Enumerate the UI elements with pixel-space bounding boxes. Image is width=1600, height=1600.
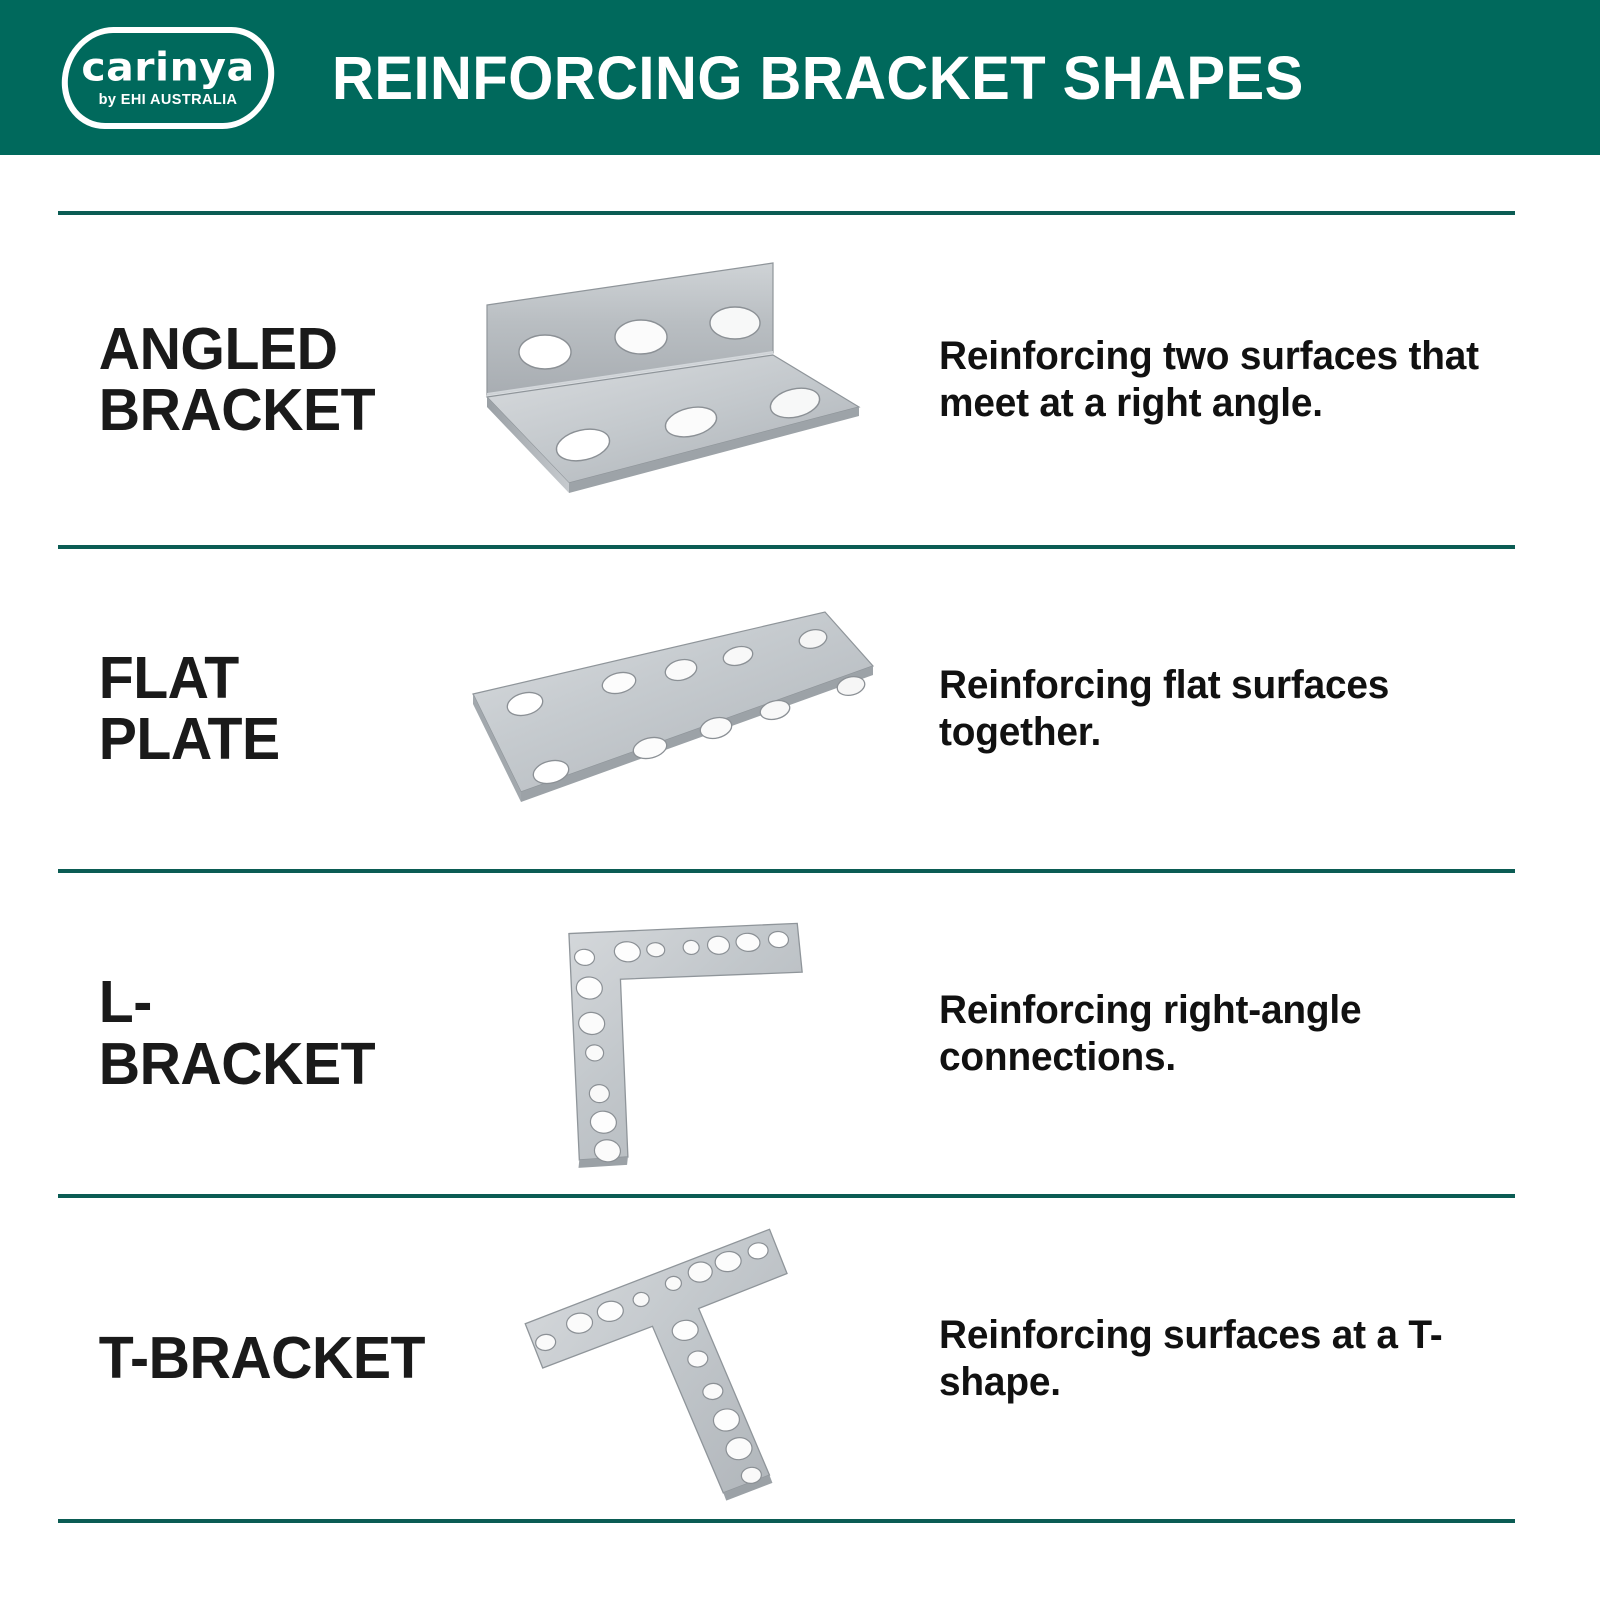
row-label-line-1: L-BRACKET bbox=[99, 972, 427, 1095]
logo-tagline: by EHI AUSTRALIA bbox=[99, 93, 238, 108]
logo-wordmark: carinya bbox=[81, 48, 254, 87]
row-description-t-bracket: Reinforcing surfaces at a T-shape. bbox=[908, 1312, 1497, 1406]
l-bracket-icon bbox=[523, 889, 823, 1179]
flat-plate-icon bbox=[463, 594, 883, 824]
infographic-page: carinya by EHI AUSTRALIA REINFORCING BRA… bbox=[0, 0, 1600, 1600]
row-l-bracket: L-BRACKET bbox=[58, 873, 1515, 1194]
row-label-line-2: BRACKET bbox=[99, 380, 427, 441]
t-bracket-body bbox=[517, 1227, 813, 1503]
t-bracket-face bbox=[517, 1227, 812, 1503]
row-angled-bracket: ANGLED BRACKET bbox=[58, 215, 1515, 545]
angled-bracket-icon bbox=[473, 255, 873, 505]
l-bracket-body bbox=[545, 899, 808, 1178]
row-label-line-1: FLAT PLATE bbox=[99, 648, 427, 771]
row-description-flat-plate: Reinforcing flat surfaces together. bbox=[908, 662, 1497, 756]
row-label-angled-bracket: ANGLED BRACKET bbox=[58, 319, 427, 442]
figure-t-bracket bbox=[438, 1198, 908, 1519]
row-t-bracket: T-BRACKET bbox=[58, 1198, 1515, 1519]
row-label-t-bracket: T-BRACKET bbox=[58, 1328, 427, 1389]
carinya-logo: carinya by EHI AUSTRALIA bbox=[62, 27, 274, 129]
divider-bottom bbox=[58, 1519, 1515, 1523]
row-description-angled-bracket: Reinforcing two surfaces that meet at a … bbox=[908, 333, 1497, 427]
row-flat-plate: FLAT PLATE bbox=[58, 549, 1515, 869]
figure-flat-plate bbox=[438, 549, 908, 869]
row-label-line-1: T-BRACKET bbox=[99, 1328, 427, 1389]
page-title: REINFORCING BRACKET SHAPES bbox=[332, 43, 1304, 113]
t-bracket-icon bbox=[508, 1214, 838, 1504]
header-bar: carinya by EHI AUSTRALIA REINFORCING BRA… bbox=[0, 0, 1600, 155]
row-label-l-bracket: L-BRACKET bbox=[58, 972, 427, 1095]
l-bracket-face bbox=[546, 899, 808, 1178]
logo-text-group: carinya by EHI AUSTRALIA bbox=[62, 27, 274, 129]
figure-l-bracket bbox=[438, 873, 908, 1194]
row-description-l-bracket: Reinforcing right-angle connections. bbox=[908, 987, 1497, 1081]
row-label-line-1: ANGLED bbox=[99, 319, 427, 380]
row-label-flat-plate: FLAT PLATE bbox=[58, 648, 427, 771]
figure-angled-bracket bbox=[438, 215, 908, 545]
